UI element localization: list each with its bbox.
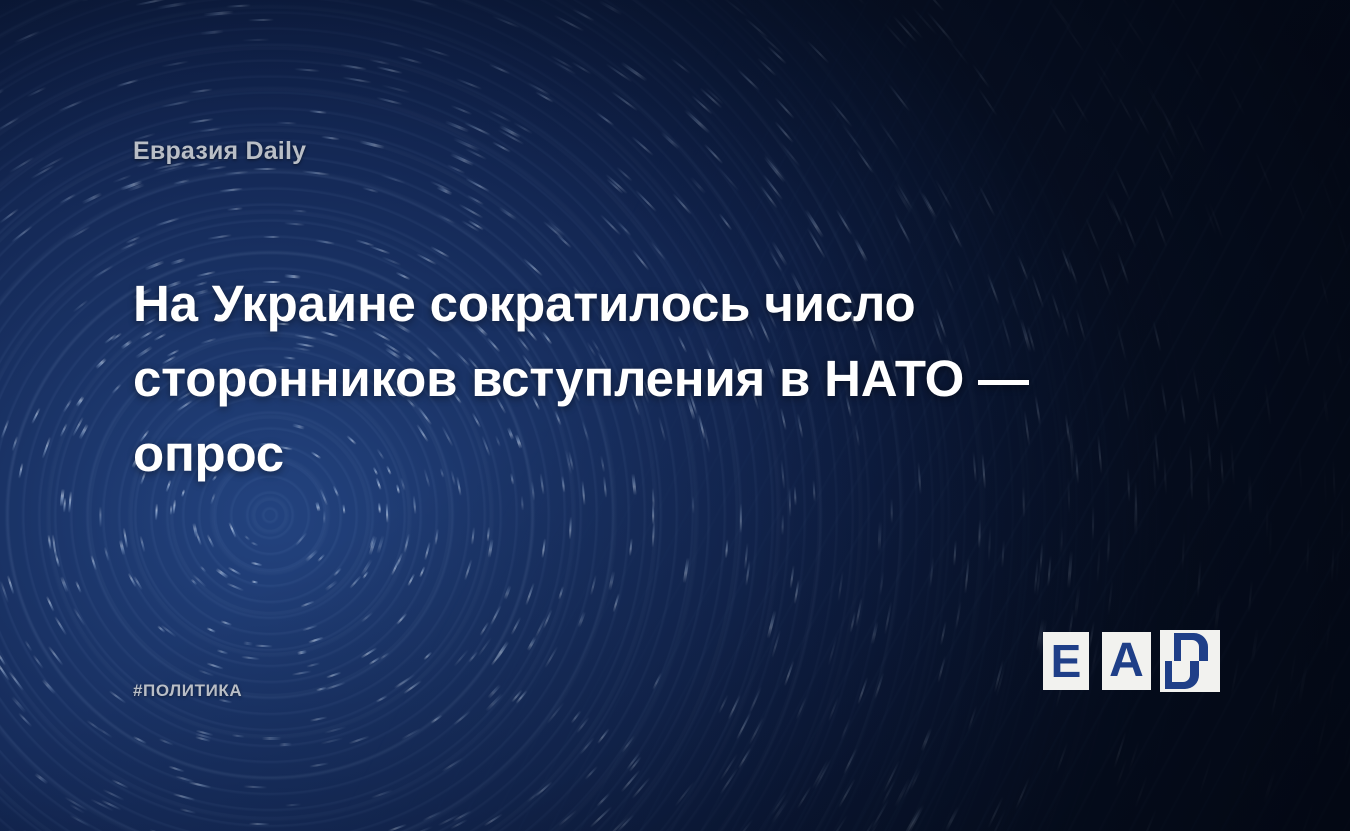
site-name: Евразия Daily: [133, 137, 306, 166]
ead-logo: E A: [1043, 630, 1220, 692]
cover-content: Евразия Daily На Украине сократилось чис…: [0, 0, 1350, 831]
article-cover-card: Евразия Daily На Украине сократилось чис…: [0, 0, 1350, 831]
page-title: На Украине сократилось число сторонников…: [133, 266, 1078, 491]
logo-letter-a-icon: A: [1102, 632, 1151, 690]
logo-letter-d-lower-icon: [1160, 661, 1220, 692]
logo-letter-d-upper-icon: [1160, 630, 1220, 661]
logo-letter-e-icon: E: [1043, 632, 1089, 690]
category-tag: #ПОЛИТИКА: [133, 681, 242, 701]
